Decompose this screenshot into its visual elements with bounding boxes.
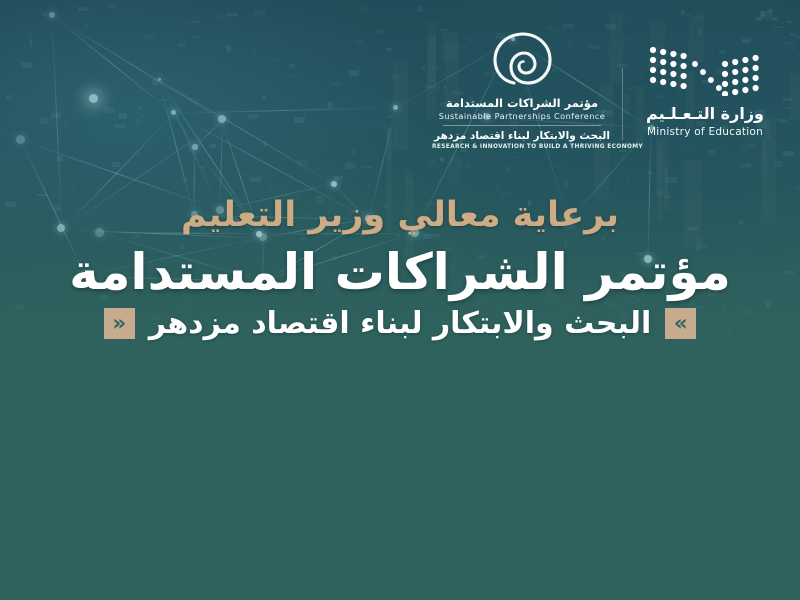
conference-tagline-ar: البحث والابتكار لبناء اقتصاد مزدهر xyxy=(432,130,612,142)
main-title: مؤتمر الشراكات المستدامة xyxy=(0,245,800,300)
headline-block: برعاية معالي وزير التعليم مؤتمر الشراكات… xyxy=(0,196,800,341)
subtitle-text: البحث والابتكار لبناء اقتصاد مزدهر xyxy=(149,306,652,341)
conference-tagline-en: RESEARCH & INNOVATION TO BUILD A THRIVIN… xyxy=(432,144,612,150)
ministry-name-ar: وزارة التـعـلـيم xyxy=(630,106,780,122)
ministry-logo: وزارة التـعـلـيم Ministry of Education xyxy=(630,44,780,138)
conference-poster: مؤتمر الشراكات المستدامة Sustainable Par… xyxy=(0,0,800,600)
chevron-right-icon: » xyxy=(665,308,696,339)
subtitle-row: » البحث والابتكار لبناء اقتصاد مزدهر « xyxy=(0,306,800,341)
conference-title-en: Sustainable Partnerships Conference xyxy=(432,111,612,121)
conference-title-ar: مؤتمر الشراكات المستدامة xyxy=(432,96,612,110)
logo-divider xyxy=(443,125,601,126)
ministry-name-en: Ministry of Education xyxy=(630,126,780,138)
saudi-dotted-emblem-icon xyxy=(647,44,763,96)
chevron-left-icon: « xyxy=(104,308,135,339)
spiral-swirl-icon xyxy=(490,30,554,92)
patronage-line: برعاية معالي وزير التعليم xyxy=(0,196,800,235)
poster-content: مؤتمر الشراكات المستدامة Sustainable Par… xyxy=(0,0,800,600)
logo-separator xyxy=(622,68,623,140)
conference-logo: مؤتمر الشراكات المستدامة Sustainable Par… xyxy=(432,30,612,150)
logo-row: مؤتمر الشراكات المستدامة Sustainable Par… xyxy=(0,30,800,145)
